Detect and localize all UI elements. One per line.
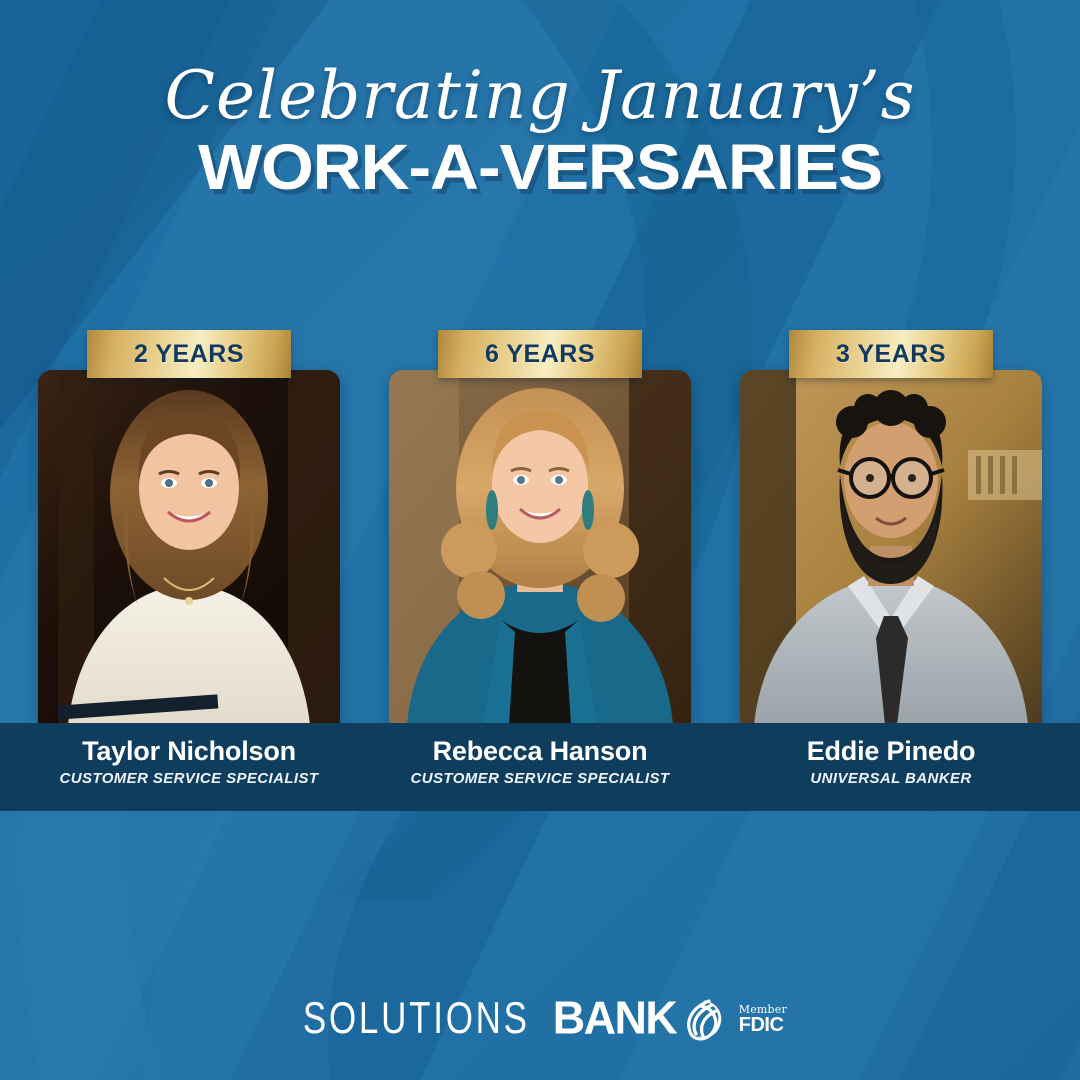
years-badge: 6 YEARS bbox=[438, 330, 642, 378]
person-name: Rebecca Hanson bbox=[370, 723, 710, 767]
portrait-rebecca-hanson-icon bbox=[389, 370, 691, 725]
fdic-badge: Member FDIC bbox=[739, 1004, 787, 1035]
person-job-title: CUSTOMER SERVICE SPECIALIST bbox=[370, 770, 710, 787]
portrait-eddie-pinedo-icon bbox=[740, 370, 1042, 725]
person-caption: Eddie Pinedo UNIVERSAL BANKER bbox=[721, 723, 1061, 811]
person-caption: Taylor Nicholson CUSTOMER SERVICE SPECIA… bbox=[19, 723, 359, 811]
page-title: WORK-A-VERSARIES bbox=[0, 135, 1080, 199]
person-name: Eddie Pinedo bbox=[721, 723, 1061, 767]
avatar bbox=[389, 370, 691, 725]
portrait-taylor-nicholson-icon bbox=[38, 370, 340, 725]
person-name: Taylor Nicholson bbox=[19, 723, 359, 767]
years-badge-label: 3 YEARS bbox=[836, 340, 946, 369]
years-badge-label: 2 YEARS bbox=[134, 340, 244, 369]
people-cards: 2 YEARS bbox=[0, 330, 1080, 730]
names-band: Taylor Nicholson CUSTOMER SERVICE SPECIA… bbox=[0, 723, 1080, 811]
poster-canvas: Celebrating January’s WORK-A-VERSARIES bbox=[0, 0, 1080, 1080]
person-card: 2 YEARS bbox=[38, 330, 340, 730]
avatar bbox=[740, 370, 1042, 725]
person-caption: Rebecca Hanson CUSTOMER SERVICE SPECIALI… bbox=[370, 723, 710, 811]
avatar bbox=[38, 370, 340, 725]
script-heading: Celebrating January’s bbox=[0, 62, 1080, 129]
person-job-title: UNIVERSAL BANKER bbox=[721, 770, 1061, 787]
logo-word-solutions: SOLUTIONS bbox=[303, 997, 530, 1042]
fdic-member-label: Member bbox=[739, 1004, 787, 1015]
years-badge: 3 YEARS bbox=[789, 330, 993, 378]
years-badge-label: 6 YEARS bbox=[485, 340, 595, 369]
header: Celebrating January’s WORK-A-VERSARIES bbox=[0, 62, 1080, 199]
person-job-title: CUSTOMER SERVICE SPECIALIST bbox=[19, 770, 359, 787]
brand-logo: SOLUTIONS BANK Member FDIC bbox=[0, 996, 1080, 1042]
years-badge: 2 YEARS bbox=[87, 330, 291, 378]
person-card: 6 YEARS bbox=[389, 330, 691, 730]
logo-word-bank: BANK bbox=[552, 996, 676, 1042]
fdic-name-label: FDIC bbox=[739, 1015, 784, 1035]
person-card: 3 YEARS bbox=[740, 330, 1042, 730]
interlocking-loop-icon bbox=[679, 996, 725, 1042]
